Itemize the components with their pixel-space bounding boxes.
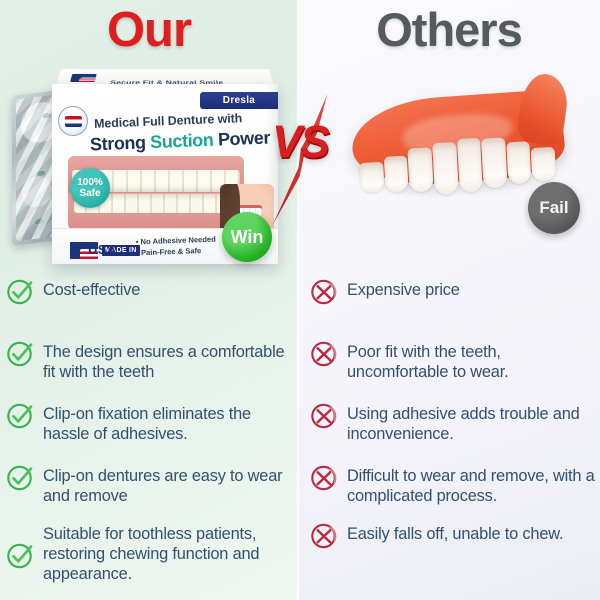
cons-list-item-text: Easily falls off, unable to chew. <box>347 524 563 544</box>
our-heading: Our <box>0 2 298 58</box>
box-bullet-2: • Pain-Free & Safe <box>136 245 216 259</box>
box-title-line2: Strong Suction Power <box>90 128 271 156</box>
made-in-usa-text: MADE IN USA <box>102 245 140 256</box>
pros-list-item: Suitable for toothless patients, restori… <box>6 524 298 584</box>
fail-badge: Fail <box>528 182 580 234</box>
safe-badge-label: Safe <box>79 188 100 199</box>
veneer-tooth <box>531 147 556 182</box>
others-heading: Others <box>298 2 600 58</box>
veneer-tooth <box>408 147 434 192</box>
pros-list-item-text: Clip-on fixation eliminates the hassle o… <box>43 404 298 444</box>
cons-list-item-text: Poor fit with the teeth, uncomfortable t… <box>347 342 598 382</box>
panel-divider <box>296 0 300 600</box>
x-circle-icon <box>310 339 339 368</box>
quality-seal-icon <box>58 106 88 136</box>
country-label: USA <box>88 245 117 254</box>
veneer-tooth <box>506 141 532 184</box>
veneer-tooth <box>432 142 458 195</box>
safe-badge-percent: 100% <box>77 177 103 188</box>
cons-list-item: Poor fit with the teeth, uncomfortable t… <box>310 342 598 382</box>
cons-list-item-text: Using adhesive adds trouble and inconven… <box>347 404 598 444</box>
check-circle-icon <box>6 541 35 570</box>
cons-list-item: Easily falls off, unable to chew. <box>310 524 563 550</box>
box-feature-bullets: • No Adhesive Needed • Pain-Free & Safe <box>136 234 217 259</box>
pros-list-item: Clip-on dentures are easy to wear and re… <box>6 466 298 506</box>
veneer-tooth <box>481 137 507 188</box>
check-circle-icon <box>6 401 35 430</box>
pros-list-item-text: Cost-effective <box>43 280 140 300</box>
check-circle-icon <box>6 463 35 492</box>
cons-list-item-text: Expensive price <box>347 280 460 300</box>
pros-list-item: Cost-effective <box>6 280 140 306</box>
veneer-tooth <box>383 156 408 193</box>
cons-list-item: Using adhesive adds trouble and inconven… <box>310 404 598 444</box>
box-title-line1: Medical Full Denture with <box>94 111 243 131</box>
cons-list-item-text: Difficult to wear and remove, with a com… <box>347 466 598 506</box>
pros-list-item-text: Clip-on dentures are easy to wear and re… <box>43 466 298 506</box>
versus-label: VS <box>252 116 348 168</box>
check-circle-icon <box>6 339 35 368</box>
safe-badge: 100% Safe <box>70 168 110 208</box>
x-circle-icon <box>310 521 339 550</box>
x-circle-icon <box>310 277 339 306</box>
made-in-usa-group: MADE IN USA <box>70 242 140 259</box>
cons-list-item: Difficult to wear and remove, with a com… <box>310 466 598 506</box>
pros-list-item: The design ensures a comfortable fit wit… <box>6 342 298 382</box>
pros-list-item-text: The design ensures a comfortable fit wit… <box>43 342 298 382</box>
check-circle-icon <box>6 277 35 306</box>
x-circle-icon <box>310 401 339 430</box>
pros-list-item-text: Suitable for toothless patients, restori… <box>43 524 298 584</box>
pros-list-item: Clip-on fixation eliminates the hassle o… <box>6 404 298 444</box>
veneer-tooth <box>457 138 483 193</box>
cons-list-item: Expensive price <box>310 280 460 306</box>
seal-flag-icon <box>65 116 82 127</box>
comparison-infographic: Our Others Secure Fit & Natural Smile Dr… <box>0 0 600 600</box>
box-title-word2: Suction <box>150 130 214 152</box>
x-circle-icon <box>310 463 339 492</box>
usa-flag-icon-top <box>70 74 97 82</box>
versus-badge: VS <box>252 96 348 224</box>
box-title-word1: Strong <box>90 132 146 154</box>
veneer-tooth <box>359 162 384 193</box>
